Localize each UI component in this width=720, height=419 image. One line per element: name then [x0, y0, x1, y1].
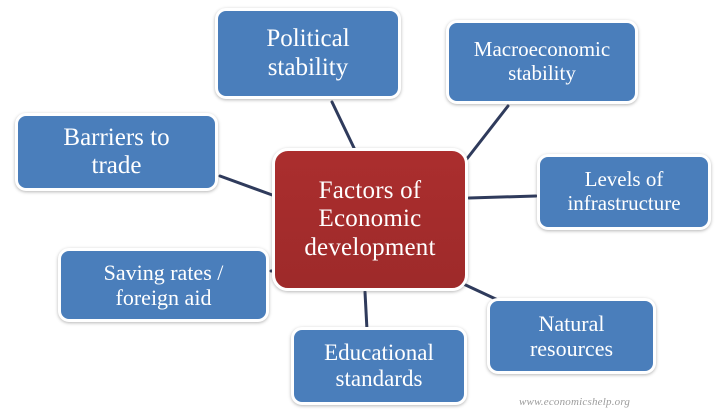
node-barriers-to-trade-label: Barriers to trade	[57, 124, 175, 181]
diagram-canvas: Factors of Economic development Politica…	[0, 0, 720, 419]
connector-barriers-to-trade	[220, 176, 275, 196]
node-levels-of-infrastructure[interactable]: Levels of infrastructure	[537, 154, 711, 230]
node-educational-standards[interactable]: Educational standards	[291, 327, 467, 405]
node-political-stability[interactable]: Political stability	[215, 8, 401, 99]
node-levels-of-infrastructure-label: Levels of infrastructure	[561, 168, 686, 216]
node-center-label: Factors of Economic development	[298, 177, 441, 263]
connector-macroeconomic	[466, 106, 508, 160]
node-barriers-to-trade[interactable]: Barriers to trade	[15, 113, 218, 191]
node-macroeconomic-stability-label: Macroeconomic stability	[468, 38, 616, 86]
node-saving-rates-foreign-aid-label: Saving rates / foreign aid	[98, 260, 230, 310]
node-saving-rates-foreign-aid[interactable]: Saving rates / foreign aid	[58, 248, 269, 322]
node-factors-of-economic-development[interactable]: Factors of Economic development	[272, 148, 468, 291]
node-educational-standards-label: Educational standards	[318, 340, 440, 392]
node-political-stability-label: Political stability	[260, 25, 355, 82]
watermark-url: www.economicshelp.org	[519, 396, 630, 408]
node-natural-resources-label: Natural resources	[524, 311, 619, 361]
node-natural-resources[interactable]: Natural resources	[487, 298, 656, 374]
node-macroeconomic-stability[interactable]: Macroeconomic stability	[446, 20, 638, 104]
connector-levels-infrastructure	[469, 196, 536, 198]
connector-political-stability	[332, 102, 355, 150]
connector-educational-standards	[365, 292, 367, 330]
